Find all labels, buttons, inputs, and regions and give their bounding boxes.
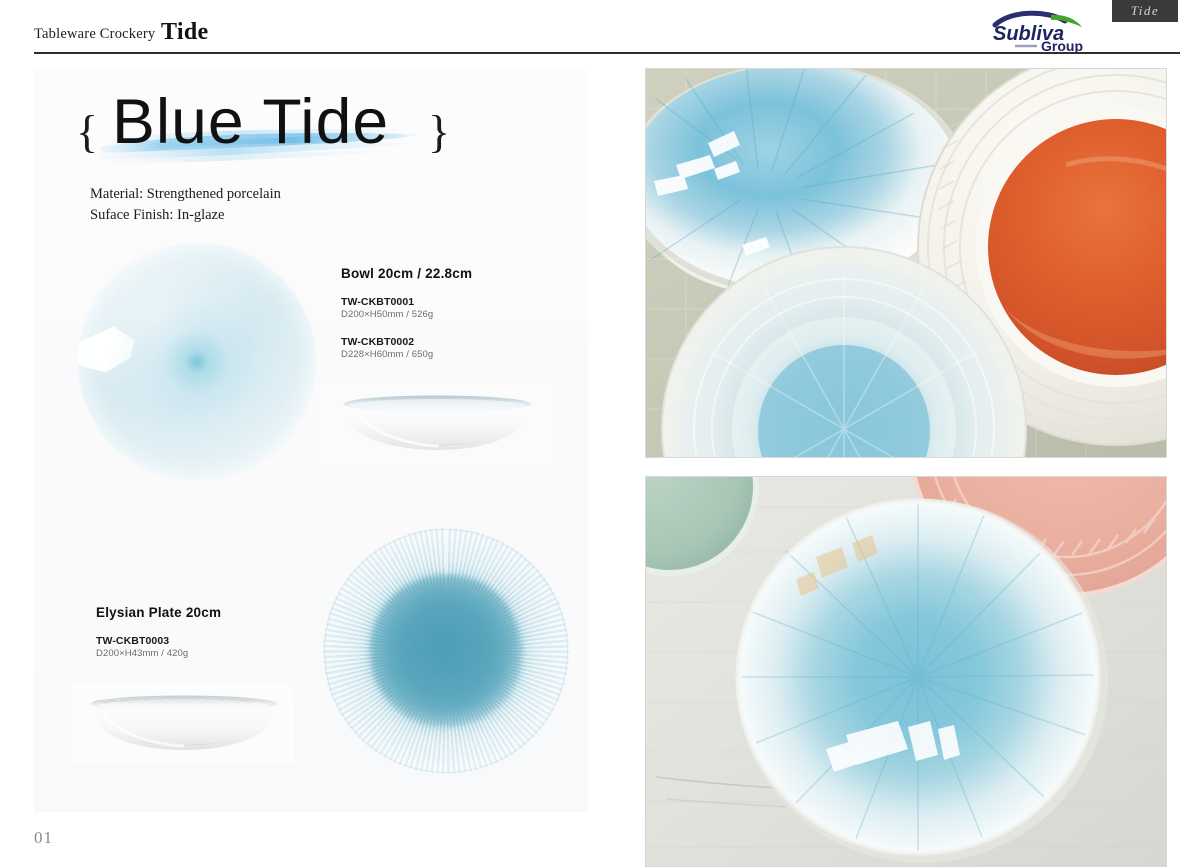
page-header: Tableware Crockery Tide Tide Subliva Gro… bbox=[0, 0, 1200, 62]
collection-title-block: { Blue Tide } bbox=[68, 85, 488, 170]
brace-left: { bbox=[76, 109, 98, 155]
styled-tableware-photo-top bbox=[645, 68, 1167, 458]
product-sku-plate-1: TW-CKBT0003 bbox=[96, 635, 169, 647]
brace-right: } bbox=[428, 109, 450, 155]
product-sku-bowl-2: TW-CKBT0002 bbox=[341, 336, 414, 348]
breadcrumb: Tableware Crockery bbox=[34, 26, 155, 43]
styled-tableware-photo-bottom bbox=[645, 476, 1167, 867]
product-dims-bowl-1: D200×H50mm / 526g bbox=[341, 309, 433, 320]
product-dims-plate-1: D200×H43mm / 420g bbox=[96, 648, 188, 659]
logo-graphic: Subliva Group bbox=[985, 8, 1105, 52]
product-dims-bowl-2: D228×H60mm / 650g bbox=[341, 349, 433, 360]
page-number: 01 bbox=[34, 828, 53, 848]
collection-specs: Material: Strengthened porcelain Suface … bbox=[90, 184, 281, 226]
bowl-side-view-image bbox=[339, 392, 535, 454]
header-divider bbox=[34, 52, 1180, 54]
product-title-plate: Elysian Plate 20cm bbox=[96, 605, 221, 620]
photo-top-graphic bbox=[646, 69, 1166, 457]
bowl-top-view-image bbox=[78, 243, 316, 481]
plate-rim-edge bbox=[324, 529, 568, 773]
collection-name: Blue Tide bbox=[112, 91, 438, 154]
spec-material: Material: Strengthened porcelain bbox=[90, 184, 281, 205]
tab-tide[interactable]: Tide bbox=[1112, 0, 1178, 22]
product-title-bowl: Bowl 20cm / 22.8cm bbox=[341, 266, 472, 281]
subliva-group-logo[interactable]: Subliva Group bbox=[985, 8, 1105, 52]
page-title: Tide bbox=[161, 19, 208, 46]
plate-side-view-image bbox=[86, 690, 282, 754]
plate-top-view-image bbox=[323, 528, 569, 774]
product-sku-bowl-1: TW-CKBT0001 bbox=[341, 296, 414, 308]
photo-bottom-graphic bbox=[646, 477, 1166, 866]
tab-tide-label: Tide bbox=[1131, 3, 1159, 19]
svg-text:Group: Group bbox=[1041, 38, 1083, 52]
spec-surface-finish: Suface Finish: In-glaze bbox=[90, 205, 281, 226]
